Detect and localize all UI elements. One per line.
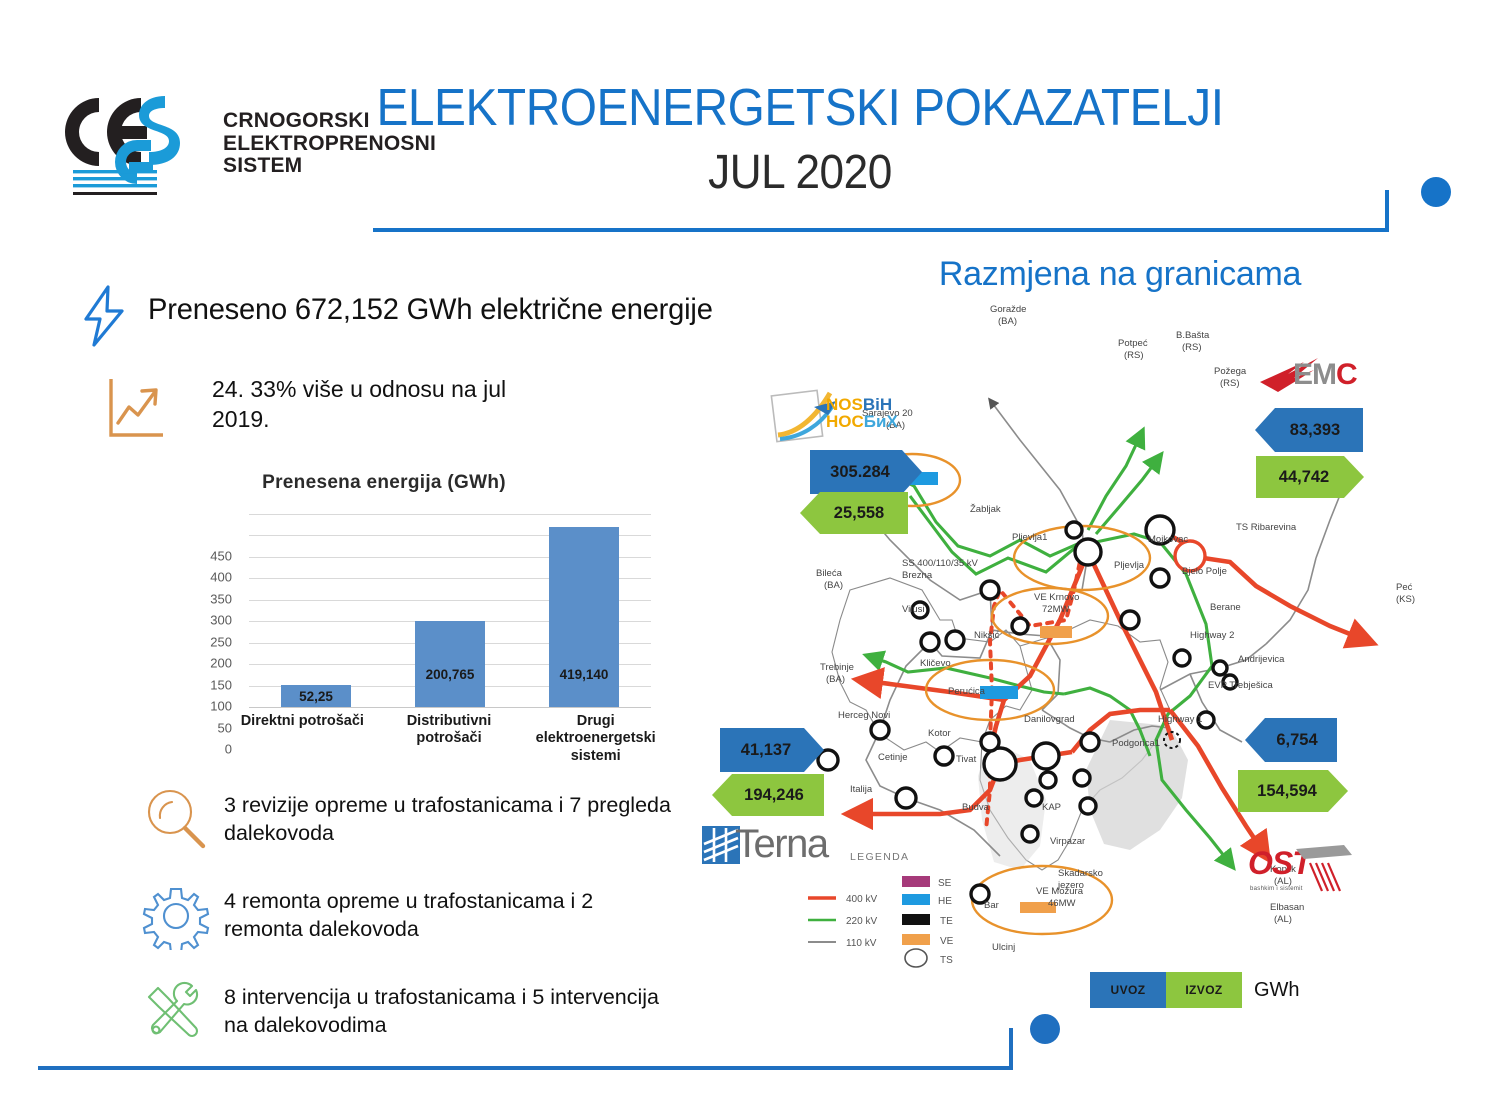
chart-bar-value: 200,765: [415, 667, 485, 682]
svg-text:B.Bašta: B.Bašta: [1176, 330, 1210, 341]
chart-x-tick-label: Distributivni potrošači: [376, 713, 523, 765]
svg-text:Vilusi: Vilusi: [902, 604, 925, 615]
svg-text:TS: TS: [940, 955, 953, 966]
svg-text:Elbasan: Elbasan: [1270, 902, 1304, 913]
svg-text:Pljevlja1: Pljevlja1: [1012, 532, 1047, 543]
export-arrow-terna: 194,246: [712, 774, 824, 821]
terna-logo-text: Terna: [735, 822, 828, 867]
svg-text:HE: HE: [938, 896, 952, 907]
list-item-text: 3 revizije opreme u trafostanicama i 7 p…: [224, 786, 674, 848]
svg-text:Danilovgrad: Danilovgrad: [1024, 714, 1075, 725]
svg-text:Bar: Bar: [984, 900, 999, 911]
svg-text:Skadarsko: Skadarsko: [1058, 868, 1103, 879]
list-item: 3 revizije opreme u trafostanicama i 7 p…: [140, 786, 700, 858]
svg-text:(KS): (KS): [1396, 594, 1415, 605]
lightning-bolt-icon: [78, 285, 130, 347]
chart-x-tick-labels: Direktni potrošačiDistributivni potrošač…: [229, 713, 669, 765]
svg-text:Podgorica1: Podgorica1: [1112, 738, 1160, 749]
legend-title: LEGENDA: [850, 851, 909, 863]
bar-chart: Prenesena energija (GWh) 050100150200250…: [108, 472, 660, 782]
page-subtitle: JUL 2020: [340, 145, 1260, 200]
svg-text:VE: VE: [940, 936, 954, 947]
chart-bar: 52,25: [281, 685, 351, 707]
export-value-emc: 44,742: [1256, 456, 1352, 498]
svg-text:Virpazar: Virpazar: [1050, 836, 1085, 847]
svg-text:Berane: Berane: [1210, 602, 1241, 613]
nosbih-logo-text: NOSBiH НОСБиХ: [826, 396, 898, 430]
chart-gridline: [249, 514, 651, 515]
list-item-text: 4 remonta opreme u trafostanicama i 2 re…: [224, 882, 674, 944]
svg-text:(RS): (RS): [1220, 378, 1240, 389]
import-export-key: UVOZ IZVOZ GWh: [1090, 972, 1300, 1008]
chart-y-tick: 400: [210, 570, 232, 585]
headline-text: Preneseno 672,152 GWh električne energij…: [148, 293, 713, 327]
header-dot: [1421, 177, 1451, 207]
svg-text:Kotor: Kotor: [928, 728, 951, 739]
svg-text:Perućica: Perućica: [948, 686, 986, 697]
magnifier-icon: [140, 786, 212, 854]
svg-text:Mojkovac: Mojkovac: [1148, 534, 1188, 545]
list-item-text: 8 intervencija u trafostanicama i 5 inte…: [224, 978, 674, 1040]
header-rule: [373, 228, 1385, 232]
svg-text:KAP: KAP: [1042, 802, 1061, 813]
import-value-nosbih: 305.284: [810, 450, 910, 494]
svg-text:(BA): (BA): [998, 316, 1017, 327]
ost-logo-subtitle: bashkim i sistemit: [1250, 886, 1303, 892]
svg-text:EVP Trebješica: EVP Trebješica: [1208, 680, 1273, 691]
svg-text:72MW: 72MW: [1042, 604, 1069, 615]
unit-label: GWh: [1254, 979, 1300, 1002]
trend-up-icon: [105, 375, 167, 441]
svg-text:Budva: Budva: [962, 802, 990, 813]
svg-text:Nikšić: Nikšić: [974, 630, 1000, 641]
export-value-ost: 154,594: [1238, 770, 1336, 812]
svg-text:220 kV: 220 kV: [846, 916, 877, 927]
svg-text:(AL): (AL): [1274, 914, 1292, 925]
import-arrow-ost: 6,754: [1245, 718, 1337, 767]
chart-plot-area: 52,25200,765419,140: [249, 514, 651, 707]
svg-text:SE: SE: [938, 878, 952, 889]
list-item: 4 remonta opreme u trafostanicama i 2 re…: [140, 882, 700, 954]
svg-text:46MW: 46MW: [1048, 898, 1075, 909]
map-legend: LEGENDA 400 kV 220 kV 110 kV SE HE TE VE…: [808, 851, 954, 967]
export-arrow-emc: 44,742: [1256, 456, 1364, 503]
perucica-he-marker: [980, 686, 1018, 699]
chart-bar: 200,765: [415, 621, 485, 707]
chart-x-tick-label: Direktni potrošači: [229, 713, 376, 765]
svg-text:Tivat: Tivat: [956, 754, 977, 765]
svg-text:TE: TE: [940, 916, 953, 927]
izvoz-chip: IZVOZ: [1166, 972, 1242, 1008]
svg-text:Italija: Italija: [850, 784, 873, 795]
uvoz-chip: UVOZ: [1090, 972, 1166, 1008]
svg-text:110 kV: 110 kV: [846, 938, 877, 949]
svg-text:Žabljak: Žabljak: [970, 504, 1001, 515]
krnovo-ve-marker: [1040, 626, 1072, 638]
chart-x-axis-line: [249, 707, 651, 708]
export-arrow-nosbih: 25,558: [800, 492, 908, 539]
svg-text:Požega: Požega: [1214, 366, 1247, 377]
svg-text:Highway 2: Highway 2: [1190, 630, 1234, 641]
export-arrow-ost: 154,594: [1238, 770, 1348, 817]
svg-text:Bileća: Bileća: [816, 568, 843, 579]
import-value-ost: 6,754: [1257, 718, 1337, 762]
emc-logo-text: EMC: [1293, 358, 1357, 392]
header-rule-riser: [1385, 190, 1389, 232]
svg-text:Herceg Novi: Herceg Novi: [838, 710, 890, 721]
chart-y-axis: 050100150200250300350400450: [108, 514, 240, 707]
svg-text:Goražde: Goražde: [990, 304, 1026, 315]
chart-y-tick: 150: [210, 677, 232, 692]
list-item: 8 intervencija u trafostanicama i 5 inte…: [140, 978, 700, 1050]
chart-y-tick: 200: [210, 656, 232, 671]
svg-text:VE Krnovo: VE Krnovo: [1034, 592, 1079, 603]
chart-bar: 419,140: [549, 527, 619, 707]
page-title: ELEKTROENERGETSKI POKAZATELJI: [340, 78, 1260, 138]
chart-bar-value: 419,140: [549, 667, 619, 682]
svg-text:SS 400/110/35 kV: SS 400/110/35 kV: [902, 558, 979, 569]
chart-y-tick: 300: [210, 613, 232, 628]
svg-text:Andrijevica: Andrijevica: [1238, 654, 1285, 665]
svg-text:Brezna: Brezna: [902, 570, 933, 581]
svg-text:TS Ribarevina: TS Ribarevina: [1236, 522, 1297, 533]
activity-list: 3 revizije opreme u trafostanicama i 7 p…: [140, 786, 700, 1074]
chart-title: Prenesena energija (GWh): [108, 472, 660, 494]
cges-logo-mark: [55, 82, 195, 202]
svg-text:Bjelo Polje: Bjelo Polje: [1182, 566, 1227, 577]
import-arrow-emc: 83,393: [1255, 408, 1363, 457]
export-value-terna: 194,246: [724, 774, 824, 816]
tools-icon: [140, 978, 212, 1046]
infographic-page: CRNOGORSKI ELEKTROPRENOSNI SISTEM ELEKTR…: [0, 0, 1500, 1100]
chart-y-tick: 250: [210, 634, 232, 649]
export-value-nosbih: 25,558: [810, 492, 908, 534]
svg-text:(BA): (BA): [826, 674, 845, 685]
chart-y-tick: 450: [210, 549, 232, 564]
svg-text:VE Možura: VE Možura: [1036, 886, 1084, 897]
svg-text:Trebinje: Trebinje: [820, 662, 854, 673]
chart-y-tick: 350: [210, 591, 232, 606]
import-value-terna: 41,137: [720, 728, 812, 772]
svg-text:400 kV: 400 kV: [846, 894, 877, 905]
svg-text:Cetinje: Cetinje: [878, 752, 908, 763]
svg-text:Highway 1: Highway 1: [1158, 714, 1202, 725]
import-arrow-terna: 41,137: [720, 728, 824, 777]
svg-text:(RS): (RS): [1124, 350, 1144, 361]
import-value-emc: 83,393: [1267, 408, 1363, 452]
chart-x-tick-label: Drugi elektroenergetski sistemi: [522, 713, 669, 765]
gear-icon: [140, 882, 212, 950]
svg-text:Peć: Peć: [1396, 582, 1413, 593]
svg-text:(RS): (RS): [1182, 342, 1202, 353]
svg-text:Ulcinj: Ulcinj: [992, 942, 1015, 953]
svg-text:Pljevlja: Pljevlja: [1114, 560, 1145, 571]
svg-text:Potpeć: Potpeć: [1118, 338, 1148, 349]
svg-text:(BA): (BA): [824, 580, 843, 591]
map-title: Razmjena na granicama: [900, 255, 1340, 294]
chart-bar-value: 52,25: [281, 689, 351, 704]
chart-y-tick: 100: [210, 699, 232, 714]
trend-text: 24. 33% više u odnosu na jul 2019.: [212, 374, 542, 435]
svg-text:Kličevo: Kličevo: [920, 658, 951, 669]
